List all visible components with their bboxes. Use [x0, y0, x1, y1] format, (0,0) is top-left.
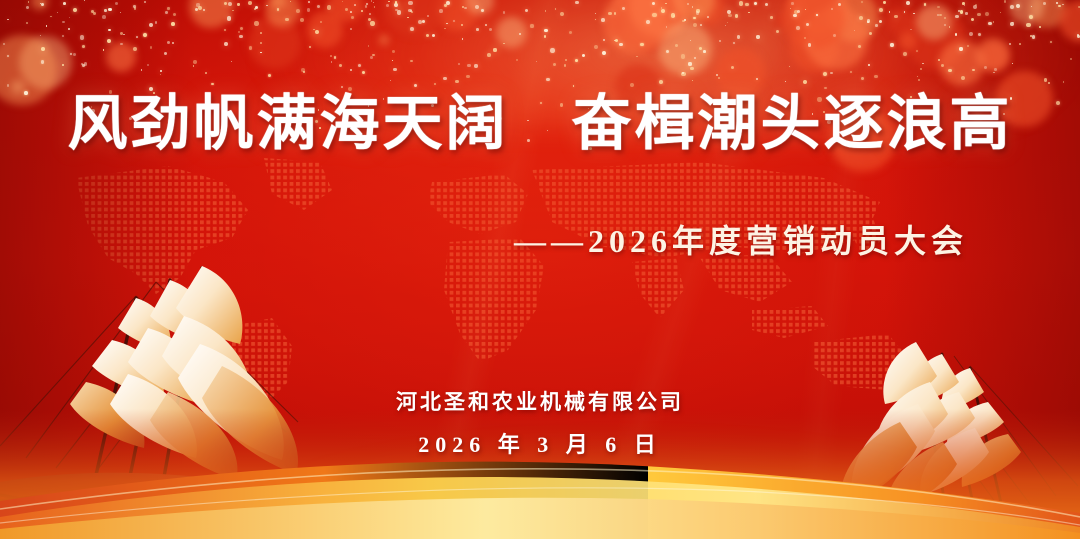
sparkle-dot: [890, 43, 893, 46]
sparkle-dot: [373, 2, 374, 3]
sparkle-dot: [682, 20, 684, 22]
sparkle-dot: [408, 1, 412, 5]
sparkle-dot: [239, 35, 243, 39]
sparkle-dot: [955, 15, 958, 18]
sparkle-dot: [859, 16, 863, 20]
sparkle-dot: [796, 26, 800, 30]
sparkle-dot: [205, 72, 207, 74]
sparkle-dot: [1050, 41, 1052, 43]
sparkle-dot: [869, 32, 872, 35]
sparkle-dot: [972, 69, 974, 71]
sparkle-dot: [255, 6, 258, 9]
sparkle-dot: [675, 44, 678, 47]
sparkle-dot: [1058, 5, 1061, 8]
sparkle-dot: [967, 45, 969, 47]
sparkle-dot: [867, 19, 871, 23]
sparkle-dot: [224, 29, 226, 31]
sparkle-dot: [937, 6, 940, 9]
sparkle-dot: [410, 60, 413, 63]
sparkle-dot: [544, 35, 547, 38]
sparkle-dot: [464, 7, 466, 9]
sparkle-dot: [198, 6, 202, 10]
sparkle-dot: [874, 75, 877, 78]
sparkle-dot: [439, 9, 443, 13]
sparkle-dot: [652, 2, 655, 5]
page-title: 风劲帆满海天阔 奋楫潮头逐浪高: [0, 92, 1080, 155]
sparkle-dot: [1019, 43, 1021, 45]
sparkle-dot: [530, 24, 533, 27]
sparkle-dot: [959, 47, 962, 50]
sparkle-dot: [41, 3, 44, 6]
sparkle-dot: [446, 23, 448, 25]
sparkle-dot: [26, 6, 29, 9]
sparkle-dot: [661, 9, 665, 13]
sparkle-dot: [601, 18, 605, 22]
sparkle-dot: [277, 8, 280, 11]
sparkle-dot: [1016, 4, 1020, 8]
sparkle-dot: [646, 20, 650, 24]
sparkle-dot: [756, 78, 758, 80]
sparkle-dot: [466, 75, 469, 78]
sparkle-dot: [1043, 2, 1046, 5]
sparkle-dot: [172, 42, 174, 44]
sparkle-dot: [879, 20, 882, 23]
sparkle-dot: [155, 21, 158, 24]
sparkle-dot: [770, 16, 773, 19]
sparkle-dot: [696, 11, 700, 15]
sparkle-dot: [149, 23, 153, 27]
sparkle-dot: [904, 11, 906, 13]
sparkle-dot: [193, 65, 194, 66]
sparkle-dot: [922, 63, 924, 65]
sparkle-dot: [68, 28, 70, 30]
sparkle-dot: [341, 86, 343, 88]
sparkle-dot: [426, 34, 429, 37]
sparkle-dot: [920, 68, 923, 71]
sparkle-dot: [854, 30, 855, 31]
sparkle-dot: [1077, 35, 1080, 39]
subtitle: ——2026年度营销动员大会: [0, 216, 1080, 262]
sparkle-dot: [268, 74, 271, 77]
sparkle-dot: [793, 14, 797, 18]
sparkle-dot: [1070, 58, 1072, 60]
sparkle-dot: [339, 64, 342, 67]
sparkle-dot: [948, 69, 951, 72]
sparkle-dot: [1062, 4, 1063, 5]
sparkle-dot: [965, 12, 967, 14]
sparkle-dot: [160, 74, 161, 75]
sparkle-dot: [136, 36, 138, 38]
sparkle-dot: [108, 29, 111, 32]
sparkle-dot: [443, 77, 447, 81]
sparkle-dot: [238, 31, 239, 32]
sparkle-dot: [985, 12, 989, 16]
sparkle-dot: [248, 1, 252, 5]
sparkle-dot: [594, 45, 598, 49]
sparkle-dot: [910, 29, 912, 31]
sparkle-dot: [120, 12, 121, 13]
sparkle-dot: [493, 48, 496, 51]
sparkle-dot: [143, 33, 147, 37]
sparkle-dot: [716, 74, 718, 76]
sparkle-dot: [803, 80, 807, 84]
sparkle-dot: [978, 33, 981, 36]
sparkle-dot: [1009, 43, 1011, 45]
sparkle-dot: [903, 52, 907, 56]
sparkle-dot: [193, 60, 197, 64]
sparkle-dot: [260, 42, 263, 45]
sparkle-dot: [1012, 63, 1013, 64]
sparkle-dot: [63, 2, 66, 5]
sparkle-dot: [944, 17, 946, 19]
event-date: 2026 年 3 月 6 日: [0, 427, 1080, 459]
sparkle-dot: [816, 14, 817, 15]
sparkle-dot: [1029, 15, 1033, 19]
sparkle-dot: [1026, 23, 1030, 27]
sparkle-dot: [733, 42, 735, 44]
sparkle-dot: [167, 7, 169, 9]
sparkle-dot: [719, 40, 721, 42]
sparkle-dot: [3, 43, 5, 45]
sparkle-dot: [308, 1, 310, 3]
sparkle-dot: [1044, 78, 1048, 82]
sparkle-dot: [351, 16, 354, 19]
sparkle-dot: [393, 68, 396, 71]
sparkle-dot: [883, 1, 885, 3]
sparkle-dot: [350, 28, 352, 30]
sparkle-dot: [345, 8, 348, 11]
sparkle-dot: [737, 35, 741, 39]
sparkle-dot: [690, 40, 692, 42]
sparkle-dot: [260, 32, 262, 34]
sparkle-dot: [690, 67, 694, 71]
sparkle-dot: [830, 72, 833, 75]
sparkle-dot: [390, 80, 391, 81]
sparkle-dot: [692, 6, 693, 7]
sparkle-dot: [232, 10, 233, 11]
sparkle-dot: [988, 22, 992, 26]
sparkle-dot: [350, 11, 352, 13]
sparkle-dot: [228, 2, 232, 6]
sparkle-dot: [994, 68, 997, 71]
sparkle-dot: [358, 64, 361, 67]
sparkle-dot: [342, 1, 343, 2]
sparkle-dot: [461, 24, 463, 26]
sparkle-dot: [1063, 81, 1064, 82]
sparkle-dot: [861, 77, 864, 80]
sparkle-dot: [838, 3, 841, 6]
sparkle-dot: [392, 60, 394, 62]
sparkle-dot: [354, 4, 356, 6]
sparkle-dot: [41, 60, 44, 63]
sparkle-dot: [362, 71, 365, 74]
sparkle-dot: [485, 24, 487, 26]
sparkle-dot: [666, 50, 669, 53]
sparkle-dot: [748, 12, 749, 13]
sparkle-dot: [407, 17, 408, 18]
sparkle-dot: [296, 9, 300, 13]
sparkle-dot: [805, 9, 806, 10]
sparkle-dot: [519, 33, 521, 35]
sparkle-dot: [1039, 26, 1041, 28]
sparkle-dot: [700, 24, 702, 26]
sparkle-dot: [40, 35, 41, 36]
sparkle-dot: [636, 56, 637, 57]
sparkle-dot: [503, 43, 504, 44]
sparkle-dot: [575, 1, 579, 5]
sparkle-dot: [392, 50, 395, 53]
sparkle-dot: [285, 18, 288, 21]
sparkle-dot: [303, 71, 305, 73]
sparkle-dot: [115, 2, 118, 5]
sparkle-dot: [916, 50, 918, 52]
sparkle-dot: [858, 45, 861, 48]
sparkle-dot: [894, 15, 897, 18]
sparkle-dot: [160, 70, 162, 72]
sparkle-dot: [120, 43, 122, 45]
sparkle-dot: [939, 14, 942, 17]
sparkle-dot: [254, 21, 258, 25]
sparkle-dot: [693, 23, 697, 27]
sparkle-dot: [458, 63, 460, 65]
sparkle-dot: [666, 26, 667, 27]
sparkle-dot: [516, 59, 518, 61]
sparkle-dot: [386, 4, 389, 7]
sparkle-dot: [487, 53, 491, 57]
sparkle-dot: [941, 64, 944, 67]
sparkle-dot: [432, 34, 435, 37]
sparkle-dot: [203, 9, 205, 11]
sparkle-dot: [546, 78, 550, 82]
sparkle-dot: [73, 8, 77, 12]
sparkle-dot: [555, 8, 557, 10]
sparkle-dot: [917, 76, 918, 77]
sparkle-dot: [388, 1, 389, 2]
sparkle-dot: [453, 20, 455, 22]
sparkle-dot: [831, 8, 833, 10]
sparkle-dot: [7, 19, 8, 20]
sparkle-dot: [46, 25, 47, 26]
sparkle-dot: [937, 14, 939, 16]
sparkle-dot: [553, 63, 556, 66]
sparkle-dot: [467, 64, 470, 67]
sparkle-dot: [975, 4, 977, 6]
sparkle-dot: [727, 22, 728, 23]
sparkle-dot: [227, 16, 231, 20]
sparkle-dot: [249, 46, 252, 49]
sparkle-dot: [536, 61, 537, 62]
sparkle-dot: [171, 22, 175, 26]
sparkle-dot: [350, 69, 352, 71]
sparkle-dot: [694, 57, 696, 59]
sparkle-dot: [808, 43, 811, 46]
sparkle-dot: [806, 23, 809, 26]
sparkle-dot: [703, 50, 706, 53]
sparkle-dot: [80, 35, 84, 39]
sparkle-dot: [984, 66, 987, 69]
sparkle-dot: [1032, 35, 1035, 38]
sparkle-dot: [868, 64, 870, 66]
sparkle-dot: [944, 24, 946, 26]
sparkle-dot: [374, 6, 375, 7]
sparkle-dot: [397, 10, 401, 14]
sparkle-dot: [545, 10, 547, 12]
sparkle-dot: [300, 18, 304, 22]
sparkle-dot: [735, 14, 738, 17]
sparkle-dot: [476, 28, 479, 31]
sparkle-dot: [320, 21, 323, 24]
sparkle-dot: [327, 5, 331, 9]
sparkle-dot: [69, 17, 70, 18]
sparkle-dot: [462, 38, 464, 40]
sparkle-dot: [804, 37, 806, 39]
sparkle-dot: [147, 64, 149, 66]
sparkle-dot: [619, 43, 623, 47]
sparkle-dot: [50, 16, 51, 17]
sparkle-dot: [434, 83, 436, 85]
sparkle-dot: [791, 2, 794, 5]
sparkle-dot: [603, 39, 606, 42]
sparkle-dot: [369, 13, 371, 15]
sparkle-dot: [789, 66, 791, 68]
sparkle-dot: [785, 81, 786, 82]
sparkle-dot: [569, 31, 572, 34]
sparkle-dot: [776, 30, 779, 33]
sparkle-dot: [614, 12, 616, 14]
sparkle-dot: [7, 55, 9, 57]
sparkle-dot: [960, 10, 963, 13]
sparkle-dot: [727, 10, 731, 14]
sparkle-dot: [725, 25, 726, 26]
sparkle-dot: [309, 46, 311, 48]
sparkle-dot: [290, 1, 291, 2]
sparkle-dot: [1031, 6, 1032, 7]
sparkle-dot: [237, 3, 239, 5]
sparkle-dot: [164, 52, 167, 55]
organization-block: 河北圣和农业机械有限公司 2026 年 3 月 6 日: [0, 386, 1080, 459]
sparkle-dot: [7, 84, 10, 87]
sparkle-dot: [575, 59, 578, 62]
sparkle-dot: [410, 27, 414, 31]
sparkle-dot: [444, 4, 448, 8]
sparkle-dot: [977, 13, 980, 16]
sparkle-dot: [123, 34, 125, 36]
sparkle-dot: [173, 13, 176, 16]
sparkle-dot: [949, 26, 951, 28]
sparkle-dot: [918, 79, 920, 81]
sparkle-dot: [84, 0, 85, 1]
sparkle-dot: [924, 3, 926, 5]
sparkle-dot: [62, 35, 64, 37]
sparkle-dot: [693, 17, 695, 19]
sparkle-dot: [62, 64, 64, 66]
sparkle-dot: [615, 39, 618, 42]
sparkle-dot: [745, 3, 749, 7]
sparkle-dot: [754, 2, 757, 5]
sparkle-dot: [1000, 12, 1001, 13]
sparkle-dot: [739, 1, 743, 5]
sparkle-dot: [718, 77, 720, 79]
sparkle-dot: [231, 61, 232, 62]
sparkle-dot: [260, 52, 261, 53]
sparkle-dot: [134, 7, 136, 9]
sparkle-dot: [938, 59, 940, 61]
sparkle-dot: [707, 16, 709, 18]
sparkle-dot: [26, 22, 28, 24]
sparkle-dot: [104, 9, 107, 12]
sparkle-dot: [850, 71, 852, 73]
sparkle-dot: [861, 1, 863, 3]
sparkle-dot: [1004, 0, 1006, 2]
sparkle-dot: [665, 3, 666, 4]
sparkle-dot: [595, 13, 596, 14]
sparkle-dot: [879, 8, 883, 12]
sparkle-dot: [70, 53, 72, 55]
sparkle-dot: [671, 13, 675, 17]
sparkle-dot: [955, 33, 957, 35]
sparkle-dot: [573, 85, 574, 86]
sparkle-dot: [474, 64, 477, 67]
sparkle-dot: [102, 15, 106, 19]
sparkle-dot: [993, 21, 994, 22]
sparkle-dot: [608, 12, 611, 15]
sparkle-dot: [317, 5, 320, 8]
sparkle-dot: [875, 24, 877, 26]
sparkle-dot: [550, 48, 554, 52]
sparkle-dot: [958, 10, 960, 12]
sparkle-dot: [62, 21, 65, 24]
sparkle-dot: [455, 80, 458, 83]
sparkle-dot: [414, 84, 417, 87]
sparkle-dot: [411, 11, 413, 13]
sparkle-dot: [630, 83, 634, 87]
sparkle-dot: [330, 55, 332, 57]
sparkle-dot: [370, 56, 373, 59]
sparkle-dot: [133, 47, 137, 51]
sparkle-dot: [765, 3, 768, 6]
sparkle-dot: [141, 69, 143, 71]
sparkle-dot: [993, 72, 995, 74]
sparkle-dot: [595, 19, 596, 20]
sparkle-dot: [971, 18, 974, 21]
sparkle-dot: [913, 13, 915, 15]
sparkle-dot: [444, 28, 446, 30]
sparkle-dot: [224, 42, 228, 46]
sparkle-dot: [906, 1, 910, 5]
sparkle-dot: [699, 47, 703, 51]
sparkle-dot: [889, 11, 891, 13]
sparkle-dot: [475, 5, 479, 9]
sparkle-dot: [167, 41, 170, 44]
sparkle-dot: [91, 10, 94, 13]
sparkle-dot: [1048, 82, 1050, 84]
sparkle-dot: [334, 56, 336, 58]
sparkle-dot: [823, 72, 827, 76]
sparkle-dot: [211, 83, 214, 86]
sparkle-dot: [361, 10, 363, 12]
sparkle-dot: [525, 9, 528, 12]
sparkle-dot: [640, 43, 643, 46]
sparkle-dot: [144, 1, 146, 3]
sparkle-dot: [790, 8, 791, 9]
sparkle-dot: [240, 27, 243, 30]
sparkle-dot: [797, 10, 800, 13]
sparkle-dot: [266, 5, 267, 6]
sparkle-dot: [368, 45, 370, 47]
sparkle-dot: [1010, 22, 1014, 26]
sparkle-dot: [84, 62, 87, 65]
sparkle-dot: [41, 47, 45, 51]
